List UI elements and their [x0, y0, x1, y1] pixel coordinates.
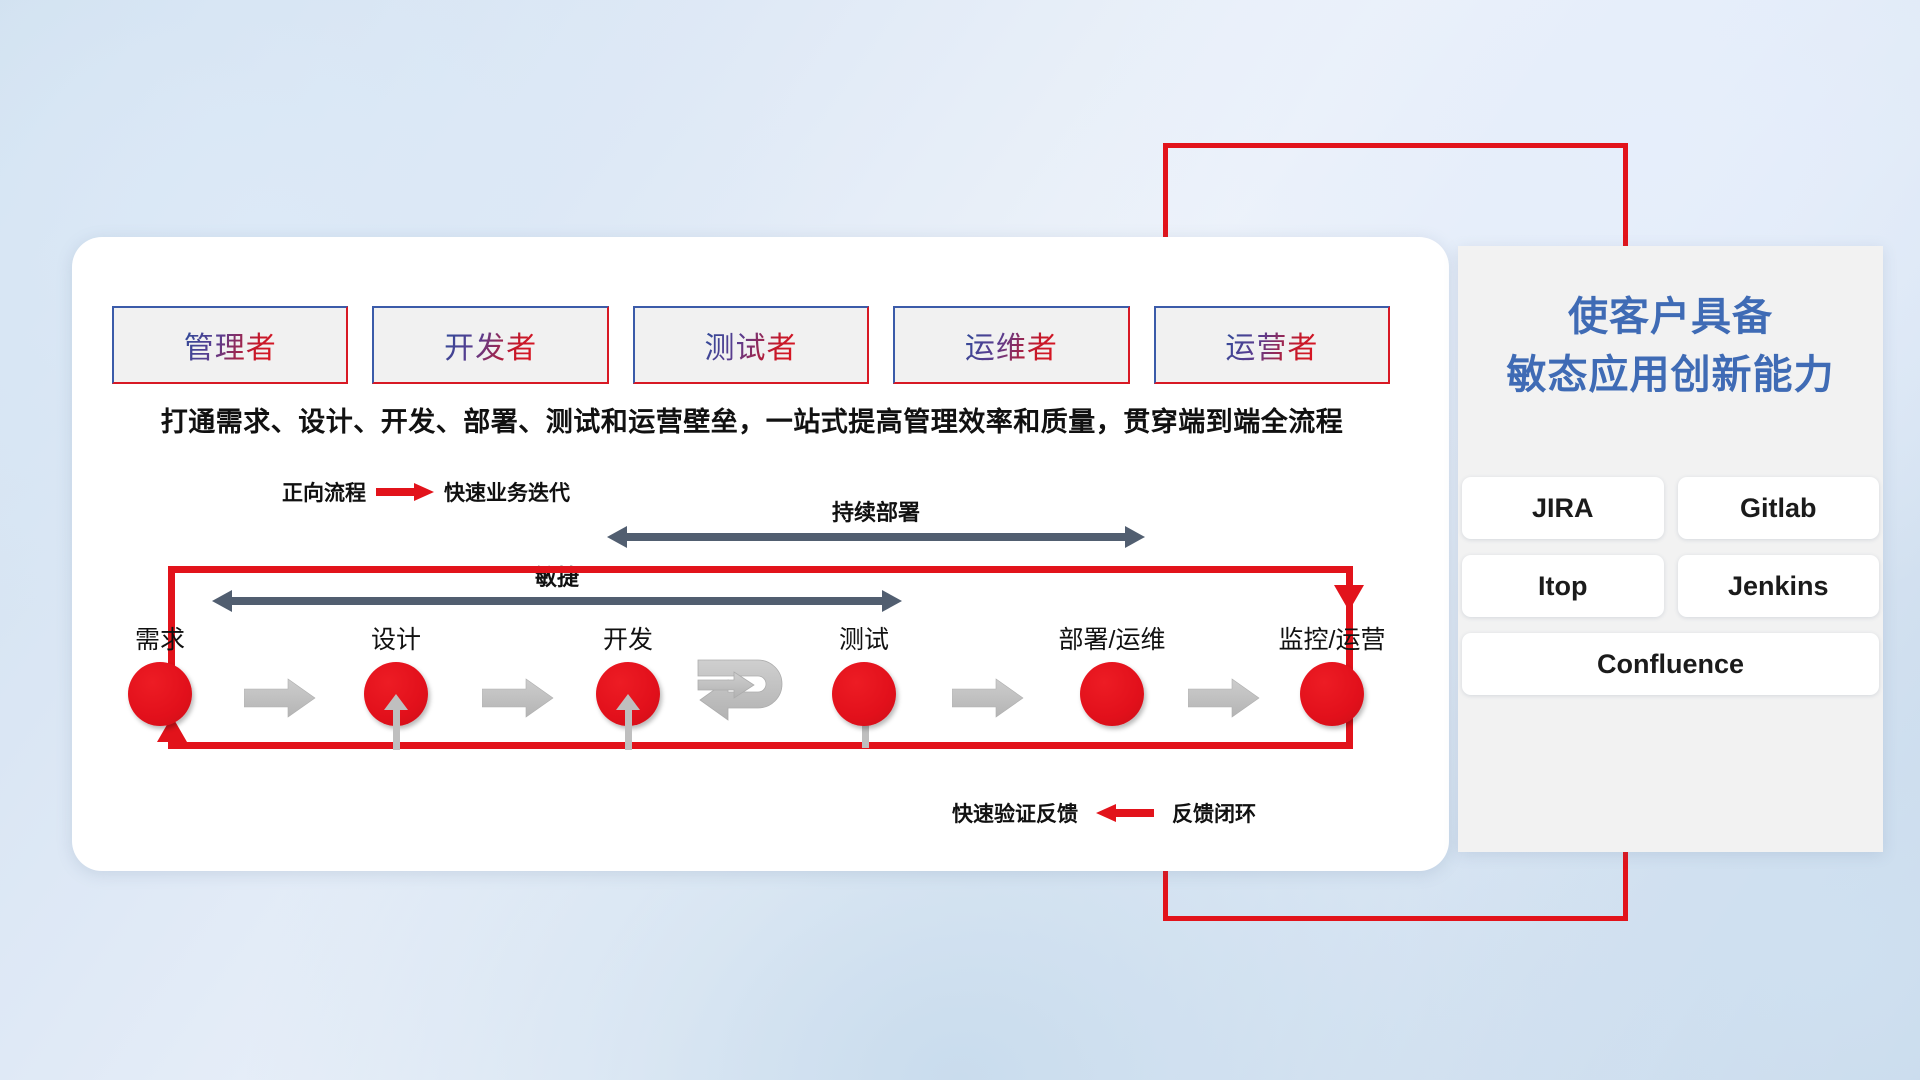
tool-chip-confluence[interactable]: Confluence [1462, 633, 1879, 695]
agile-caption: 敏捷 [212, 560, 902, 592]
pipeline-node-label: 设计 [306, 620, 486, 656]
feeder-stem [625, 708, 632, 750]
grey-block-arrow-right-icon [244, 678, 316, 718]
role-box-4[interactable]: 运维者 [893, 306, 1129, 384]
arrow-shaft [623, 533, 1129, 541]
pipeline-node-label: 需求 [70, 620, 250, 656]
pipeline-node-dot [832, 662, 896, 726]
grey-block-arrow-right-icon [1188, 678, 1260, 718]
pipeline-node-5[interactable]: 部署/运维 [1022, 620, 1202, 726]
tool-chip-label: Confluence [1597, 649, 1744, 680]
capability-title-line-2: 敏态应用创新能力 [1458, 346, 1883, 404]
red-arrow-right-icon [376, 483, 434, 501]
pipeline-node-dot [1080, 662, 1144, 726]
continuous-deployment-span-arrow [607, 526, 1145, 548]
role-box-5[interactable]: 运营者 [1154, 306, 1390, 384]
role-label: 运维者 [965, 323, 1058, 367]
pipeline-node-4[interactable]: 测试 [774, 620, 954, 726]
headline-text: 打通需求、设计、开发、部署、测试和运营壁垒，一站式提高管理效率和质量，贯穿端到端… [112, 400, 1392, 439]
role-label: 管理者 [184, 323, 277, 367]
feeder-arrow-up-icon [384, 694, 408, 710]
legend-forward-left-label: 正向流程 [282, 477, 366, 507]
feeder-arrow-up-icon [616, 694, 640, 710]
red-loop-arrow-down-icon [1334, 585, 1364, 611]
pipeline-node-label: 开发 [538, 620, 718, 656]
tool-chip-label: Gitlab [1740, 493, 1817, 524]
role-box-2[interactable]: 开发者 [372, 306, 608, 384]
pipeline-node-6[interactable]: 监控/运营 [1242, 620, 1422, 726]
legend-feedback-right-label: 反馈闭环 [1172, 798, 1256, 828]
role-box-3[interactable]: 测试者 [633, 306, 869, 384]
grey-block-arrow-right-icon [952, 678, 1024, 718]
pipeline-node-label: 监控/运营 [1242, 620, 1422, 656]
tool-chip-jenkins[interactable]: Jenkins [1678, 555, 1880, 617]
role-label: 开发者 [444, 323, 537, 367]
arrow-head-right-icon [882, 590, 902, 612]
tool-chip-label: JIRA [1532, 493, 1594, 524]
role-label: 测试者 [705, 323, 798, 367]
legend-feedback-left-label: 快速验证反馈 [952, 798, 1078, 828]
legend-forward-right-label: 快速业务迭代 [444, 477, 570, 507]
pipeline-node-label: 测试 [774, 620, 954, 656]
legend-forward-flow: 正向流程 快速业务迭代 [282, 477, 570, 507]
red-arrow-left-icon [1096, 804, 1154, 822]
tools-grid: JIRAGitlabItopJenkinsConfluence [1462, 477, 1879, 695]
continuous-deployment-caption: 持续部署 [607, 495, 1145, 527]
pipeline: 需求设计开发测试部署/运维监控/运营 [112, 620, 1412, 750]
arrow-shaft [228, 597, 886, 605]
grey-block-arrow-right-icon [482, 678, 554, 718]
legend-feedback-loop: 快速验证反馈 反馈闭环 [952, 798, 1256, 828]
tool-chip-label: Itop [1538, 571, 1587, 602]
capability-panel-title: 使客户具备 敏态应用创新能力 [1458, 288, 1883, 404]
arrow-head-right-icon [1125, 526, 1145, 548]
pipeline-node-label: 部署/运维 [1022, 620, 1202, 656]
agile-span-arrow [212, 590, 902, 612]
tool-chip-gitlab[interactable]: Gitlab [1678, 477, 1880, 539]
pipeline-node-1[interactable]: 需求 [70, 620, 250, 726]
roles-row: 管理者开发者测试者运维者运营者 [112, 306, 1390, 384]
tool-chip-itop[interactable]: Itop [1462, 555, 1664, 617]
red-loop-top-segment [168, 566, 1353, 573]
feeder-stem [393, 708, 400, 750]
tool-chip-label: Jenkins [1728, 571, 1829, 602]
grey-uturn-loop-arrow-icon [694, 658, 798, 730]
pipeline-node-dot [128, 662, 192, 726]
role-box-1[interactable]: 管理者 [112, 306, 348, 384]
role-label: 运营者 [1225, 323, 1318, 367]
tool-chip-jira[interactable]: JIRA [1462, 477, 1664, 539]
pipeline-node-dot [1300, 662, 1364, 726]
capability-title-line-1: 使客户具备 [1458, 288, 1883, 346]
